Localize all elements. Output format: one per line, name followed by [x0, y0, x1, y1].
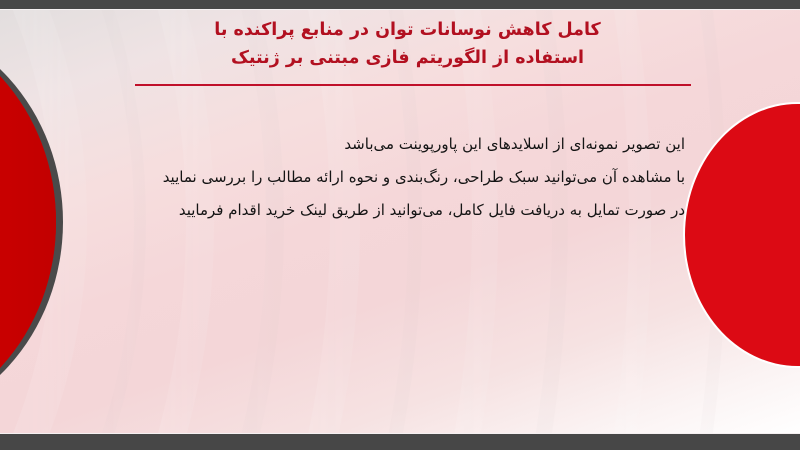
slide-body-text: این تصویر نمونه‌ای از اسلایدهای این پاور…: [125, 128, 685, 227]
left-red-lens-decoration: [0, 18, 56, 426]
bottom-frame-bar: [0, 434, 800, 450]
slide-title: کامل کاهش نوسانات توان در منابع پراکنده …: [120, 16, 695, 72]
top-frame-hairline: [0, 9, 800, 10]
slide-body-line-2: با مشاهده آن می‌توانید سبک طراحی، رنگ‌بن…: [125, 161, 685, 194]
bottom-frame-hairline: [0, 433, 800, 434]
slide-title-line-2: استفاده از الگوریتم فازی مبتنی بر ژنتیک: [120, 44, 695, 72]
slide-body-line-3: در صورت تمایل به دریافت فایل کامل، می‌تو…: [125, 194, 685, 227]
presentation-slide: کامل کاهش نوسانات توان در منابع پراکنده …: [0, 0, 800, 450]
slide-canvas: کامل کاهش نوسانات توان در منابع پراکنده …: [0, 10, 800, 434]
slide-body-line-1: این تصویر نمونه‌ای از اسلایدهای این پاور…: [125, 128, 685, 161]
right-red-ellipse-decoration: [683, 102, 800, 368]
title-underline-rule: [135, 84, 691, 86]
slide-title-line-1: کامل کاهش نوسانات توان در منابع پراکنده …: [120, 16, 695, 44]
top-frame-bar: [0, 0, 800, 9]
